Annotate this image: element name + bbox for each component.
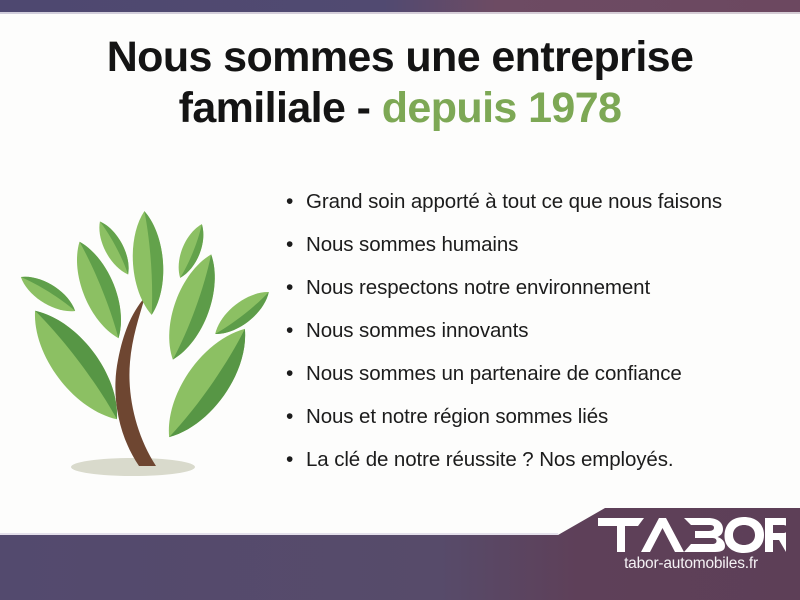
- leaf: [152, 317, 262, 449]
- values-list: • Grand soin apporté à tout ce que nous …: [286, 190, 786, 491]
- leaf: [129, 210, 166, 316]
- list-item: • La clé de notre réussite ? Nos employé…: [286, 448, 786, 491]
- footer-bar: [0, 500, 800, 600]
- page-title: Nous sommes une entreprise familiale - d…: [0, 32, 800, 133]
- title-line-2-accent: depuis 1978: [382, 84, 622, 132]
- list-item: • Nous sommes humains: [286, 233, 786, 276]
- list-item-label: La clé de notre réussite ? Nos employés.: [306, 448, 673, 472]
- tree-shadow: [71, 458, 195, 476]
- tree-trunk: [115, 297, 156, 466]
- list-item: • Grand soin apporté à tout ce que nous …: [286, 190, 786, 233]
- list-item-label: Nous sommes un partenaire de confiance: [306, 362, 682, 386]
- footer-band: [0, 508, 800, 600]
- list-item-label: Nous sommes innovants: [306, 319, 528, 343]
- bullet-icon: •: [286, 320, 306, 341]
- bullet-icon: •: [286, 277, 306, 298]
- list-item: • Nous et notre région sommes liés: [286, 405, 786, 448]
- bullet-icon: •: [286, 234, 306, 255]
- list-item: • Nous respectons notre environnement: [286, 276, 786, 319]
- list-item: • Nous sommes innovants: [286, 319, 786, 362]
- list-item: • Nous sommes un partenaire de confiance: [286, 362, 786, 405]
- leaf: [16, 269, 81, 319]
- top-accent-bar: [0, 0, 800, 12]
- top-accent-hairline: [0, 12, 800, 14]
- footer-hairline: [0, 533, 558, 535]
- title-line-2: familiale - depuis 1978: [0, 83, 800, 134]
- list-item-label: Nous sommes humains: [306, 233, 518, 257]
- bullet-icon: •: [286, 406, 306, 427]
- title-line-1: Nous sommes une entreprise: [0, 32, 800, 83]
- tree-icon: [8, 185, 280, 485]
- list-item-label: Nous et notre région sommes liés: [306, 405, 608, 429]
- title-line-2-prefix: familiale -: [179, 84, 382, 132]
- bullet-icon: •: [286, 449, 306, 470]
- bullet-icon: •: [286, 363, 306, 384]
- list-item-label: Grand soin apporté à tout ce que nous fa…: [306, 190, 722, 214]
- slide-canvas: Nous sommes une entreprise familiale - d…: [0, 0, 800, 600]
- list-item-label: Nous respectons notre environnement: [306, 276, 650, 300]
- bullet-icon: •: [286, 191, 306, 212]
